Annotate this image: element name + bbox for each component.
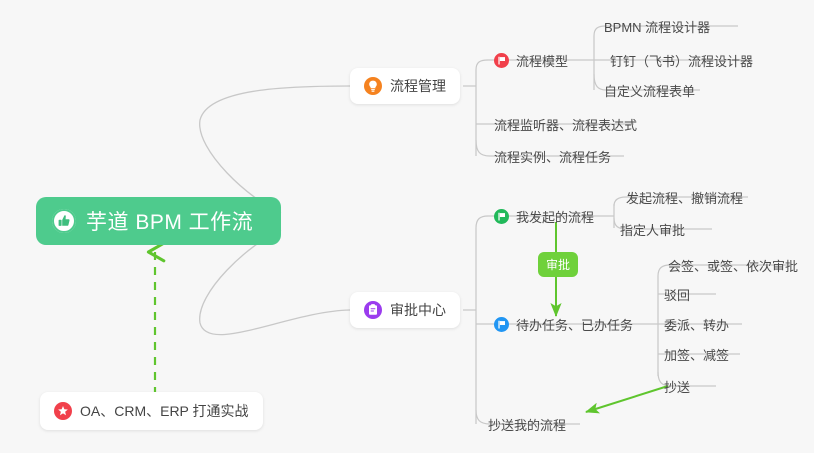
node-todo-done-tasks[interactable]: 待办任务、已办任务 [492, 312, 637, 336]
floating-note-card[interactable]: OA、CRM、ERP 打通实战 [40, 392, 263, 430]
node-label: BPMN 流程设计器 [604, 17, 710, 36]
node-process-model[interactable]: 流程模型 [492, 48, 572, 72]
node-label: 驳回 [664, 285, 690, 304]
node-label: 钉钉（飞书）流程设计器 [610, 51, 753, 70]
node-start-cancel-process[interactable]: 发起流程、撤销流程 [624, 185, 747, 209]
clipboard-icon [364, 301, 382, 319]
floating-note-label: OA、CRM、ERP 打通实战 [80, 401, 249, 421]
node-countersign[interactable]: 会签、或签、依次审批 [666, 253, 802, 277]
flag-icon [494, 53, 509, 68]
node-label: 会签、或签、依次审批 [668, 256, 798, 275]
thumbs-up-icon [52, 209, 76, 233]
branch-label: 审批中心 [390, 300, 446, 320]
node-assignee-approval[interactable]: 指定人审批 [618, 217, 689, 241]
mindmap-canvas: 芋道 BPM 工作流 流程管理 流程模型 流程监听器、流程表达式 流程实例、流程… [0, 0, 814, 453]
node-label: 流程监听器、流程表达式 [494, 115, 637, 134]
node-label: 发起流程、撤销流程 [626, 188, 743, 207]
branch-node-approval-center[interactable]: 审批中心 [350, 292, 460, 328]
lightbulb-icon [364, 77, 382, 95]
node-bpmn-designer[interactable]: BPMN 流程设计器 [602, 14, 714, 38]
node-label: 流程模型 [516, 51, 568, 70]
branch-label: 流程管理 [390, 76, 446, 96]
node-label: 流程实例、流程任务 [494, 147, 611, 166]
branch-node-process-management[interactable]: 流程管理 [350, 68, 460, 104]
flag-icon [494, 317, 509, 332]
node-label: 抄送我的流程 [488, 415, 566, 434]
node-cc[interactable]: 抄送 [662, 374, 694, 398]
node-label: 抄送 [664, 377, 690, 396]
node-label: 委派、转办 [664, 315, 729, 334]
root-label: 芋道 BPM 工作流 [86, 206, 253, 236]
node-label: 我发起的流程 [516, 207, 594, 226]
flag-icon [494, 209, 509, 224]
node-label: 待办任务、已办任务 [516, 315, 633, 334]
star-icon [54, 402, 72, 420]
node-label: 指定人审批 [620, 220, 685, 239]
node-process-instance[interactable]: 流程实例、流程任务 [492, 144, 615, 168]
node-reject[interactable]: 驳回 [662, 282, 694, 306]
node-my-initiated[interactable]: 我发起的流程 [492, 204, 598, 228]
node-custom-form[interactable]: 自定义流程表单 [602, 78, 699, 102]
approval-badge-label: 审批 [546, 256, 570, 273]
node-add-remove-sign[interactable]: 加签、减签 [662, 342, 733, 366]
node-label: 自定义流程表单 [604, 81, 695, 100]
node-process-listener[interactable]: 流程监听器、流程表达式 [492, 112, 641, 136]
approval-badge[interactable]: 审批 [538, 252, 578, 277]
node-dingtalk-designer[interactable]: 钉钉（飞书）流程设计器 [608, 48, 757, 72]
node-delegate-transfer[interactable]: 委派、转办 [662, 312, 733, 336]
node-label: 加签、减签 [664, 345, 729, 364]
root-node[interactable]: 芋道 BPM 工作流 [36, 197, 281, 245]
node-cc-to-me[interactable]: 抄送我的流程 [486, 412, 570, 436]
